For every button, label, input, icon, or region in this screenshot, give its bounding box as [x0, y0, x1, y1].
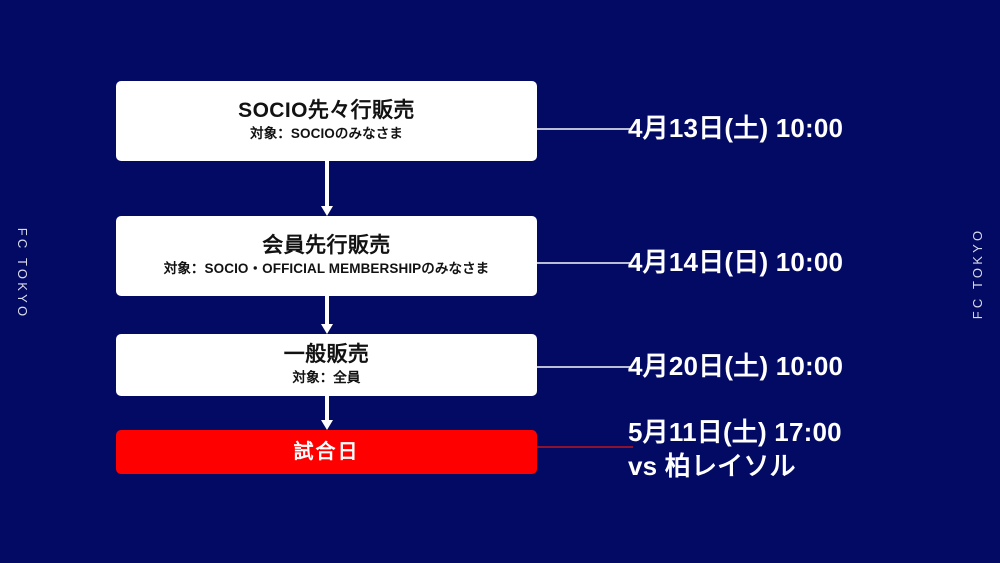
flow-step-socio-advance-sale: SOCIO先々行販売 対象：SOCIOのみなさま: [116, 81, 537, 161]
date-line: 4月13日(土) 10:00: [628, 111, 843, 145]
flow-step-date-1: 4月13日(土) 10:00: [628, 111, 843, 145]
flow-step-date-3: 4月20日(土) 10:00: [628, 349, 843, 383]
down-arrow-icon-2: [325, 296, 329, 325]
flow-step-subtitle: 対象：SOCIOのみなさま: [250, 126, 403, 142]
date-line: 4月14日(日) 10:00: [628, 245, 843, 279]
flow-step-title: SOCIO先々行販売: [238, 99, 415, 123]
leader-line-2: [537, 262, 631, 264]
flow-step-subtitle: 対象：SOCIO・OFFICIAL MEMBERSHIPのみなさま: [164, 261, 490, 277]
flow-step-title: 試合日: [294, 441, 360, 464]
ticket-sales-timeline-slide: FC TOKYO FC TOKYO SOCIO先々行販売 対象：SOCIOのみな…: [0, 0, 1000, 563]
flow-step-date-2: 4月14日(日) 10:00: [628, 245, 843, 279]
opponent-line: vs 柏レイソル: [628, 449, 842, 483]
down-arrow-icon-3: [325, 396, 329, 421]
flow-step-title: 一般販売: [284, 343, 370, 367]
flow-step-date-4: 5月11日(土) 17:00 vs 柏レイソル: [628, 415, 842, 484]
leader-line-4: [537, 446, 633, 448]
date-line: 4月20日(土) 10:00: [628, 349, 843, 383]
flow-step-general-sale: 一般販売 対象：全員: [116, 334, 537, 396]
flow-step-match-day: 試合日: [116, 430, 537, 474]
flow-step-subtitle: 対象：全員: [293, 370, 361, 386]
leader-line-1: [537, 128, 631, 130]
down-arrow-icon-1: [325, 161, 329, 207]
brand-watermark-left: FC TOKYO: [15, 214, 30, 334]
brand-watermark-right: FC TOKYO: [970, 214, 985, 334]
date-line: 5月11日(土) 17:00: [628, 415, 842, 449]
flow-step-title: 会員先行販売: [262, 234, 390, 258]
leader-line-3: [537, 366, 631, 368]
flow-step-member-advance-sale: 会員先行販売 対象：SOCIO・OFFICIAL MEMBERSHIPのみなさま: [116, 216, 537, 296]
